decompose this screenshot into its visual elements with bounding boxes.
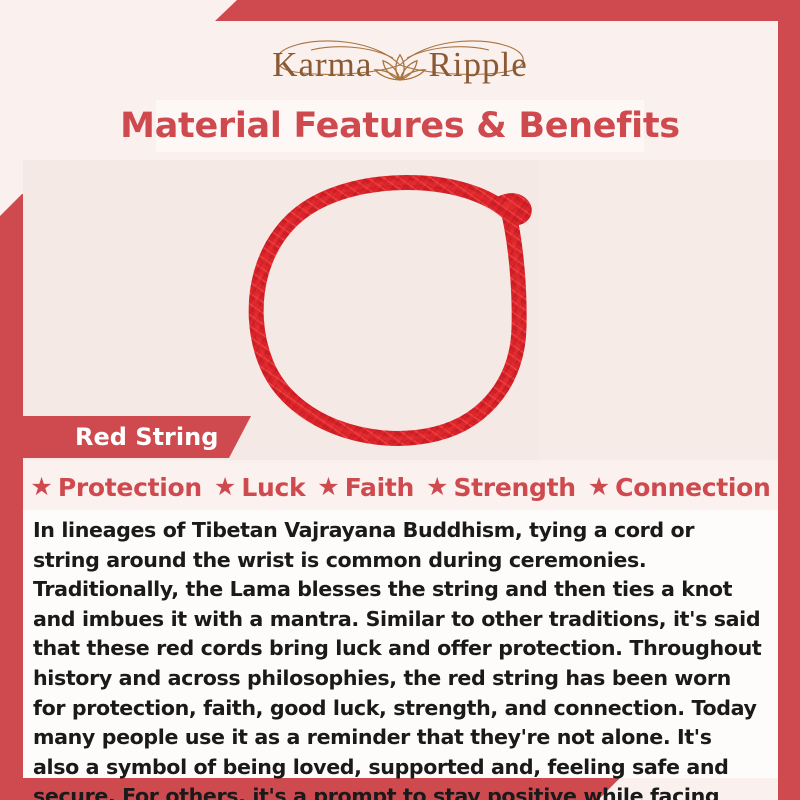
description-text: In lineages of Tibetan Vajrayana Buddhis…: [33, 516, 762, 800]
page-title: Material Features & Benefits: [120, 106, 680, 146]
decorative-border-right: [778, 0, 800, 800]
star-icon: ★: [588, 475, 610, 500]
product-image-area: [23, 160, 778, 460]
star-icon: ★: [426, 475, 448, 500]
star-icon: ★: [214, 475, 236, 500]
benefit-label: Connection: [615, 473, 770, 502]
product-label-banner: Red String: [23, 416, 251, 458]
benefit-item-luck: ★ Luck: [209, 473, 310, 502]
benefits-row: ★ Protection ★ Luck ★ Faith ★ Strength ★…: [23, 464, 778, 510]
benefit-label: Protection: [58, 473, 202, 502]
lotus-icon: [371, 46, 429, 86]
benefit-label: Faith: [345, 473, 414, 502]
brand-name-right: Ripple: [428, 45, 527, 85]
product-label: Red String: [75, 423, 218, 451]
description-panel: In lineages of Tibetan Vajrayana Buddhis…: [23, 510, 778, 778]
decorative-border-top: [215, 0, 800, 21]
red-string-bracelet-image: [236, 168, 566, 458]
hero-background-wash: [538, 160, 778, 460]
star-icon: ★: [317, 475, 339, 500]
star-icon: ★: [30, 475, 52, 500]
benefit-label: Strength: [453, 473, 575, 502]
benefit-label: Luck: [241, 473, 305, 502]
decorative-border-left: [0, 194, 23, 800]
benefit-item-faith: ★ Faith: [312, 473, 419, 502]
benefit-item-connection: ★ Connection: [583, 473, 776, 502]
title-banner: Material Features & Benefits: [156, 100, 644, 152]
infographic-poster: Karma Ripple Material Features & Benefit…: [0, 0, 800, 800]
brand-logo: Karma Ripple: [0, 34, 800, 96]
brand-name-left: Karma: [272, 45, 372, 85]
benefit-item-strength: ★ Strength: [421, 473, 581, 502]
benefit-item-protection: ★ Protection: [25, 473, 206, 502]
